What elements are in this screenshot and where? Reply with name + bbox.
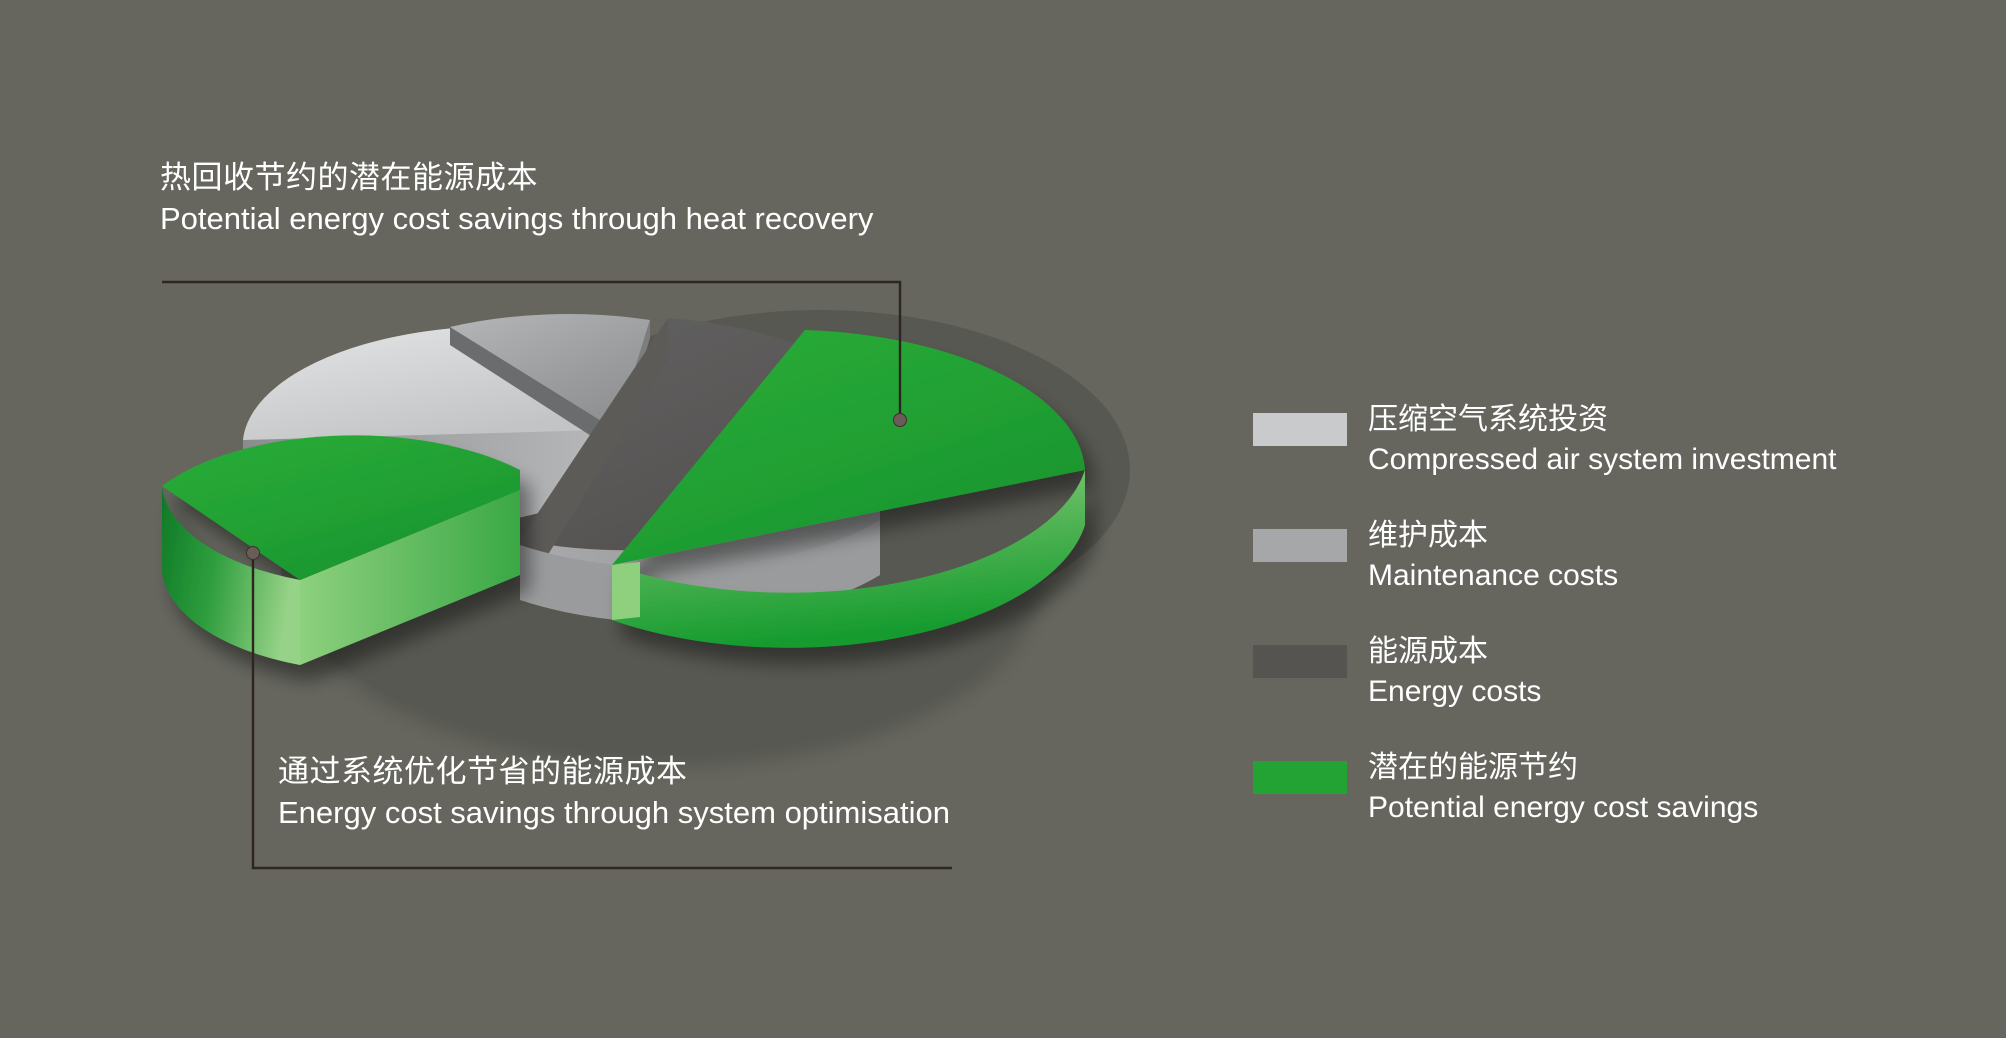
legend-label-cn: 能源成本 [1368, 635, 1488, 668]
legend-label-cn: 压缩空气系统投资 [1368, 403, 1608, 436]
legend-item-energy-costs[interactable]: 能源成本 Energy costs [1253, 640, 1893, 714]
legend-label-en: Energy costs [1368, 675, 1541, 708]
legend-swatch-icon [1253, 529, 1347, 562]
legend-swatch-icon [1253, 645, 1347, 678]
legend-label-cn: 维护成本 [1368, 519, 1488, 552]
callout-heat-recovery: 热回收节约的潜在能源成本 Potential energy cost savin… [160, 158, 873, 240]
legend-label-en: Potential energy cost savings [1368, 791, 1758, 824]
callout-system-optimisation: 通过系统优化节省的能源成本 Energy cost savings throug… [278, 752, 950, 834]
legend-item-potential-energy-savings[interactable]: 潜在的能源节约 Potential energy cost savings [1253, 756, 1893, 830]
legend-item-maintenance-costs[interactable]: 维护成本 Maintenance costs [1253, 524, 1893, 598]
legend-label-group: 压缩空气系统投资 Compressed air system investmen… [1368, 400, 1837, 480]
legend-item-compressed-air-investment[interactable]: 压缩空气系统投资 Compressed air system investmen… [1253, 408, 1893, 482]
legend-label-en: Maintenance costs [1368, 559, 1618, 592]
legend-swatch-icon [1253, 761, 1347, 794]
callout-system-optimisation-en: Energy cost savings through system optim… [278, 793, 950, 834]
callout-heat-recovery-cn: 热回收节约的潜在能源成本 [160, 158, 873, 199]
legend-label-cn: 潜在的能源节约 [1368, 751, 1578, 784]
legend-label-group: 能源成本 Energy costs [1368, 632, 1541, 712]
callout-system-optimisation-cn: 通过系统优化节省的能源成本 [278, 752, 950, 793]
chart-legend: 压缩空气系统投资 Compressed air system investmen… [1253, 408, 1893, 872]
legend-label-en: Compressed air system investment [1368, 443, 1837, 476]
legend-label-group: 潜在的能源节约 Potential energy cost savings [1368, 748, 1758, 828]
legend-swatch-icon [1253, 413, 1347, 446]
legend-label-group: 维护成本 Maintenance costs [1368, 516, 1618, 596]
chart-canvas: 热回收节约的潜在能源成本 Potential energy cost savin… [0, 0, 2006, 1038]
callout-heat-recovery-en: Potential energy cost savings through he… [160, 199, 873, 240]
